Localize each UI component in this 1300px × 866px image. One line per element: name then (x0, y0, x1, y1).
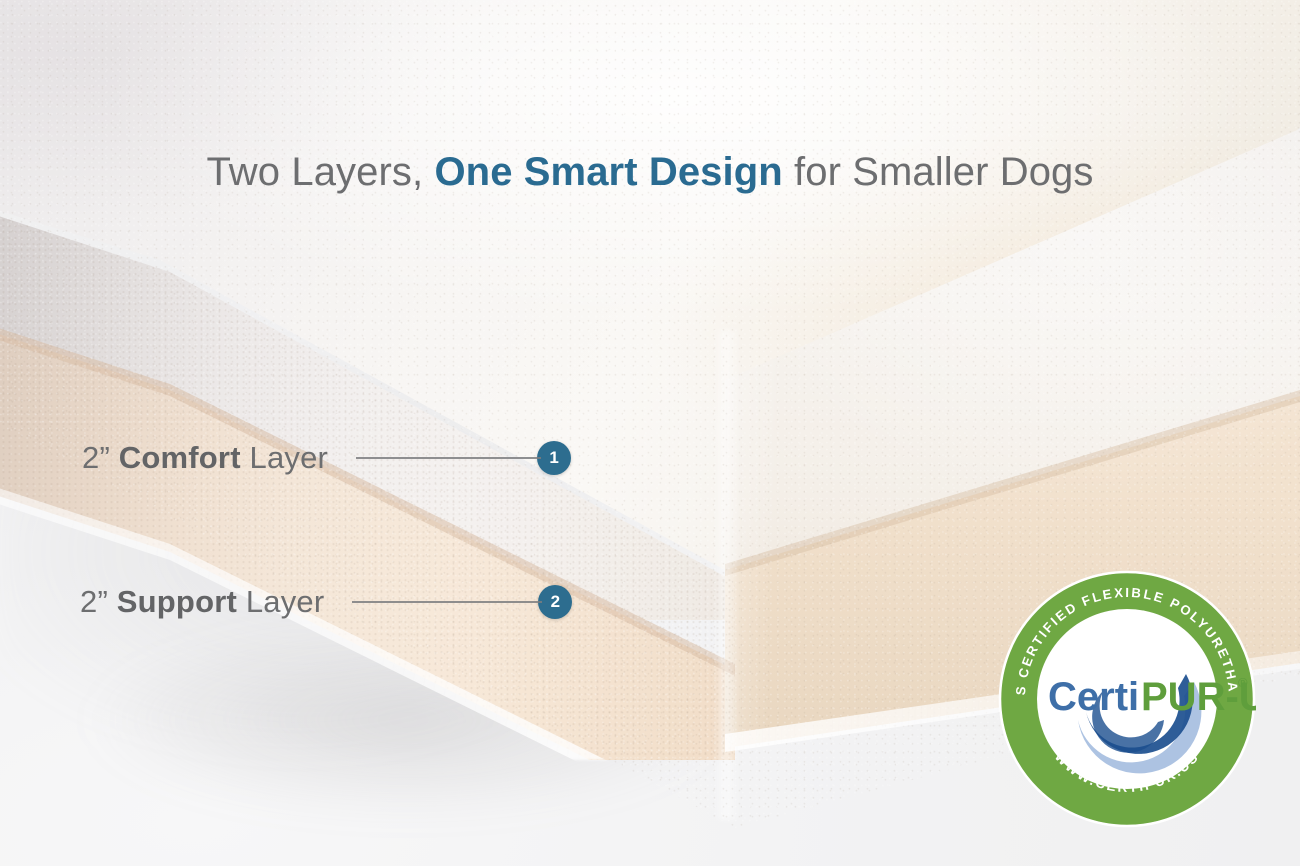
comfort-name: Comfort (119, 440, 241, 475)
badge-wordmark: Certi PUR-US ® (1048, 675, 1256, 719)
callout-badge-1[interactable]: 1 (537, 441, 571, 475)
comfort-suffix: Layer (241, 440, 328, 475)
title-lead: Two Layers, (206, 150, 434, 194)
product-infographic: Two Layers, One Smart Design for Smaller… (0, 0, 1300, 866)
leader-line-2 (352, 601, 542, 603)
support-name: Support (117, 584, 237, 619)
support-thickness: 2” (80, 584, 117, 619)
support-suffix: Layer (237, 584, 324, 619)
title-tail: for Smaller Dogs (783, 150, 1094, 194)
page-title: Two Layers, One Smart Design for Smaller… (0, 150, 1300, 195)
certipur-us-badge: CONTAINS CERTIFIED FLEXIBLE POLYURETHANE… (998, 570, 1256, 828)
callout-comfort-label: 2” Comfort Layer (82, 440, 328, 476)
wordmark-certi: Certi (1048, 675, 1139, 719)
title-accent: One Smart Design (434, 150, 782, 194)
certipur-seal-graphic: CONTAINS CERTIFIED FLEXIBLE POLYURETHANE… (998, 570, 1256, 828)
leader-line-1 (356, 457, 541, 459)
callout-badge-2[interactable]: 2 (538, 585, 572, 619)
comfort-thickness: 2” (82, 440, 119, 475)
callout-comfort-layer: 2” Comfort Layer 1 (82, 440, 571, 476)
callout-support-layer: 2” Support Layer 2 (80, 584, 572, 620)
wordmark-registered-mark: ® (1238, 675, 1248, 690)
callout-support-label: 2” Support Layer (80, 584, 324, 620)
